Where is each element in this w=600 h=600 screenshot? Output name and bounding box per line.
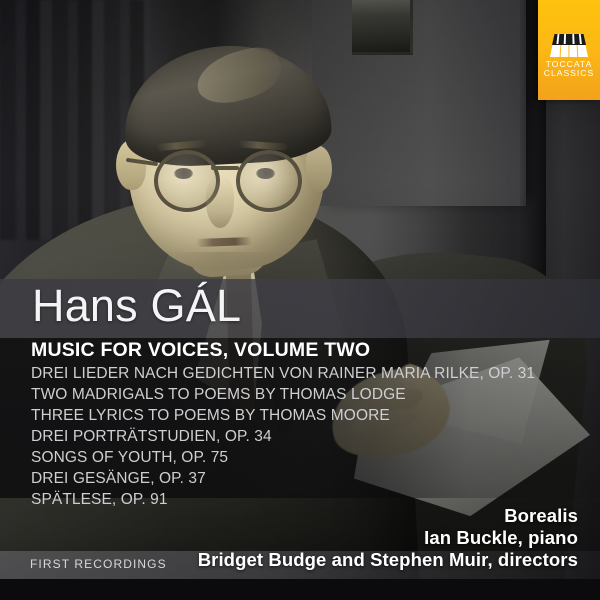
- album-cover: Hans GÁL MUSIC FOR VOICES, VOLUME TWO DR…: [0, 0, 600, 600]
- work-item: DREI PORTRÄTSTUDIEN, OP. 34: [31, 429, 535, 445]
- label-name-line2: CLASSICS: [538, 69, 600, 78]
- label-wordmark: TOCCATA CLASSICS: [538, 60, 600, 79]
- performer-directors: Bridget Budge and Stephen Muir, director…: [198, 549, 578, 571]
- composer-name: Hans GÁL: [32, 283, 241, 328]
- bottom-bar: [0, 579, 600, 600]
- work-item: DREI GESÄNGE, OP. 37: [31, 471, 535, 487]
- performer-pianist: Ian Buckle, piano: [198, 527, 578, 549]
- works-list: MUSIC FOR VOICES, VOLUME TWO DREI LIEDER…: [31, 341, 535, 513]
- piano-keyboard-icon: [548, 28, 590, 58]
- work-item: TWO MADRIGALS TO POEMS BY THOMAS LODGE: [31, 387, 535, 403]
- first-recordings-label: FIRST RECORDINGS: [30, 557, 167, 571]
- performer-ensemble: Borealis: [198, 505, 578, 527]
- work-item: DREI LIEDER NACH GEDICHTEN VON RAINER MA…: [31, 366, 535, 382]
- album-title: MUSIC FOR VOICES, VOLUME TWO: [31, 341, 535, 361]
- toccata-classics-logo: TOCCATA CLASSICS: [538, 0, 600, 100]
- performer-credits: Borealis Ian Buckle, piano Bridget Budge…: [198, 505, 578, 570]
- work-item: THREE LYRICS TO POEMS BY THOMAS MOORE: [31, 408, 535, 424]
- work-item: SONGS OF YOUTH, OP. 75: [31, 450, 535, 466]
